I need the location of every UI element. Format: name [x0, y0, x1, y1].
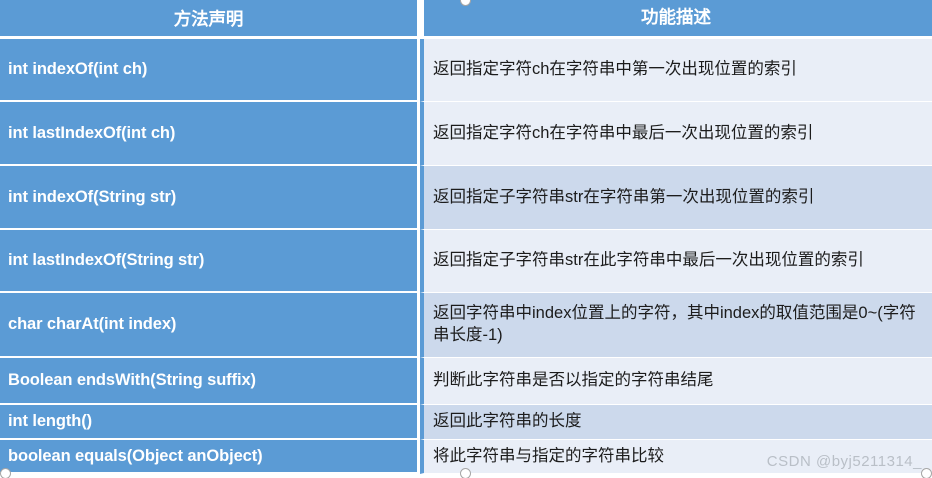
column-header-method: 方法声明 [0, 0, 417, 39]
method-cell: int lastIndexOf(String str) [0, 230, 417, 293]
column-header-description: 功能描述 [420, 0, 932, 39]
resize-handle-bottom-center[interactable] [460, 468, 471, 478]
method-cell: int indexOf(String str) [0, 166, 417, 230]
table-row: int indexOf(String str) 返回指定子字符串str在字符串第… [0, 166, 932, 230]
method-cell: char charAt(int index) [0, 293, 417, 358]
method-cell: int indexOf(int ch) [0, 39, 417, 102]
description-text: 返回此字符串的长度 [433, 411, 582, 433]
table-row: char charAt(int index) 返回字符串中index位置上的字符… [0, 293, 932, 358]
description-text: 返回指定字符ch在字符串中第一次出现位置的索引 [433, 59, 797, 81]
table-row: Boolean endsWith(String suffix) 判断此字符串是否… [0, 358, 932, 405]
resize-handle-bottom-left[interactable] [0, 468, 11, 478]
description-text: 将此字符串与指定的字符串比较 [433, 446, 664, 468]
description-text: 返回指定字符ch在字符串中最后一次出现位置的索引 [433, 123, 813, 145]
description-text: 返回字符串中index位置上的字符，其中index的取值范围是0~(字符串长度-… [433, 303, 928, 347]
description-cell: 返回字符串中index位置上的字符，其中index的取值范围是0~(字符串长度-… [420, 293, 932, 358]
description-cell: 返回指定字符ch在字符串中最后一次出现位置的索引 [420, 102, 932, 166]
resize-handle-bottom-right[interactable] [921, 468, 932, 478]
method-cell: int length() [0, 405, 417, 440]
description-cell: 判断此字符串是否以指定的字符串结尾 [420, 358, 932, 405]
description-text: 返回指定子字符串str在此字符串中最后一次出现位置的索引 [433, 250, 864, 272]
method-cell: Boolean endsWith(String suffix) [0, 358, 417, 405]
method-cell: int lastIndexOf(int ch) [0, 102, 417, 166]
description-text: 判断此字符串是否以指定的字符串结尾 [433, 370, 714, 392]
table-row: int lastIndexOf(int ch) 返回指定字符ch在字符串中最后一… [0, 102, 932, 166]
description-cell: 将此字符串与指定的字符串比较 [420, 440, 932, 474]
table-row: int length() 返回此字符串的长度 [0, 405, 932, 440]
description-cell: 返回指定子字符串str在此字符串中最后一次出现位置的索引 [420, 230, 932, 293]
description-cell: 返回指定字符ch在字符串中第一次出现位置的索引 [420, 39, 932, 102]
table-row: int indexOf(int ch) 返回指定字符ch在字符串中第一次出现位置… [0, 39, 932, 102]
description-text: 返回指定子字符串str在字符串第一次出现位置的索引 [433, 187, 814, 209]
screenshot-root: 方法声明 功能描述 int indexOf(int ch) 返回指定字符ch在字… [0, 0, 932, 478]
description-cell: 返回指定子字符串str在字符串第一次出现位置的索引 [420, 166, 932, 230]
method-cell: boolean equals(Object anObject) [0, 440, 417, 474]
table-row: int lastIndexOf(String str) 返回指定子字符串str在… [0, 230, 932, 293]
string-methods-table: 方法声明 功能描述 int indexOf(int ch) 返回指定字符ch在字… [0, 0, 932, 474]
description-cell: 返回此字符串的长度 [420, 405, 932, 440]
